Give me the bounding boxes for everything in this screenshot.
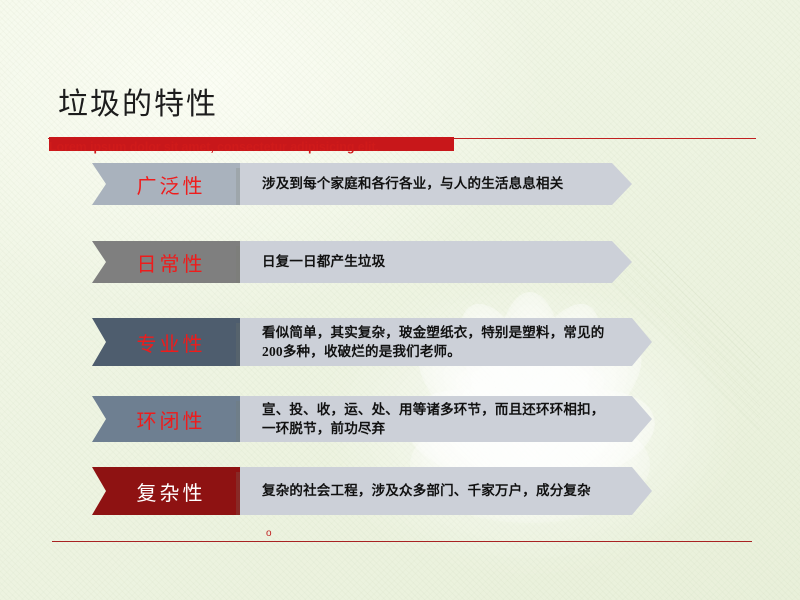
chevron-row-label-text: 复杂性 bbox=[137, 477, 206, 506]
chevron-row-label-text: 广泛性 bbox=[137, 170, 206, 199]
chevron-row-body: 日复一日都产生垃圾 bbox=[240, 241, 632, 283]
slide-canvas: 垃圾的特性 Lorem ipsum dolor sit amet, consec… bbox=[0, 0, 800, 600]
chevron-row-body-text: 宣、投、收，运、处、用等诸多环节，而且还环环相扣，一环脱节，前功尽弃 bbox=[240, 400, 652, 438]
chevron-row-label-text: 环闭性 bbox=[137, 405, 206, 434]
chevron-row: 环闭性宣、投、收，运、处、用等诸多环节，而且还环环相扣，一环脱节，前功尽弃 bbox=[92, 396, 652, 442]
chevron-row-label: 专业性 bbox=[92, 318, 240, 366]
slide-subtitle-text: Lorem ipsum dolor sit amet, consectetur … bbox=[49, 140, 379, 154]
chevron-row-body-text: 日复一日都产生垃圾 bbox=[240, 252, 419, 271]
chevron-row-body: 复杂的社会工程，涉及众多部门、千家万户，成分复杂 bbox=[240, 467, 652, 515]
chevron-row: 专业性看似简单，其实复杂，玻金塑纸衣，特别是塑料，常见的200多种，收破烂的是我… bbox=[92, 318, 652, 366]
chevron-row-label: 环闭性 bbox=[92, 396, 240, 442]
chevron-row-label-text: 日常性 bbox=[137, 248, 206, 277]
chevron-row: 广泛性涉及到每个家庭和各行各业，与人的生活息息相关 bbox=[92, 163, 632, 205]
chevron-row-body: 宣、投、收，运、处、用等诸多环节，而且还环环相扣，一环脱节，前功尽弃 bbox=[240, 396, 652, 442]
chevron-row-label-text: 专业性 bbox=[137, 328, 206, 357]
chevron-row-label: 复杂性 bbox=[92, 467, 240, 515]
chevron-row-body-text: 看似简单，其实复杂，玻金塑纸衣，特别是塑料，常见的200多种，收破烂的是我们老师… bbox=[240, 323, 652, 361]
footer-bullet-mark: o bbox=[266, 528, 272, 539]
chevron-row-body: 看似简单，其实复杂，玻金塑纸衣，特别是塑料，常见的200多种，收破烂的是我们老师… bbox=[240, 318, 652, 366]
chevron-row: 日常性日复一日都产生垃圾 bbox=[92, 241, 632, 283]
chevron-row-label: 广泛性 bbox=[92, 163, 240, 205]
page-title: 垃圾的特性 bbox=[58, 88, 218, 122]
slide-subtitle: Lorem ipsum dolor sit amet, consectetur … bbox=[49, 136, 469, 156]
footer-divider-rule bbox=[52, 541, 752, 542]
chevron-row-body-text: 涉及到每个家庭和各行各业，与人的生活息息相关 bbox=[240, 174, 597, 193]
chevron-row-body-text: 复杂的社会工程，涉及众多部门、千家万户，成分复杂 bbox=[240, 481, 625, 500]
chevron-row: 复杂性复杂的社会工程，涉及众多部门、千家万户，成分复杂 bbox=[92, 467, 652, 515]
chevron-row-label: 日常性 bbox=[92, 241, 240, 283]
chevron-row-body: 涉及到每个家庭和各行各业，与人的生活息息相关 bbox=[240, 163, 632, 205]
